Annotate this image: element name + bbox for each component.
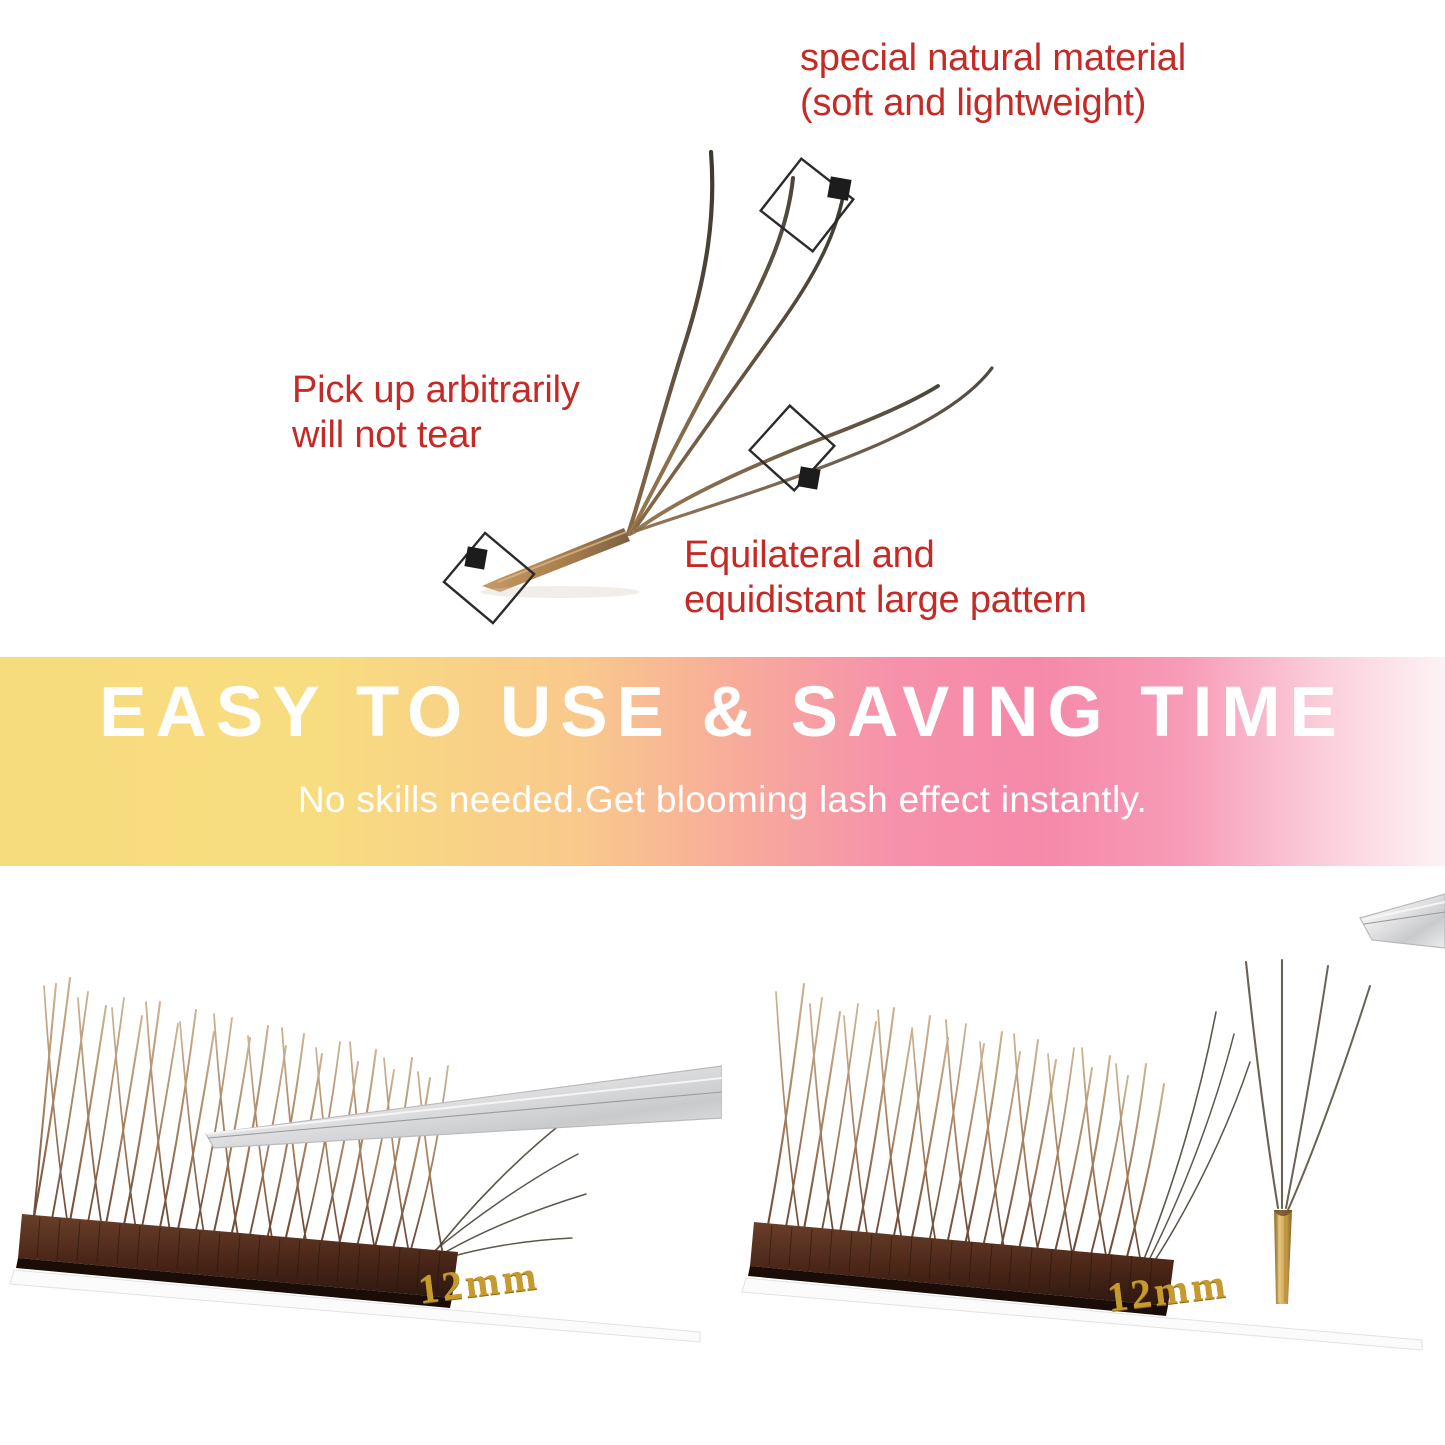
- banner-subtitle: No skills needed.Get blooming lash effec…: [0, 779, 1445, 821]
- product-photo-row: 12mm: [0, 866, 1445, 1445]
- promo-graphic-page: special natural material (soft and light…: [0, 0, 1445, 1445]
- lash-tray-left-illustration: [0, 866, 722, 1445]
- top-feature-section: special natural material (soft and light…: [0, 0, 1445, 657]
- lash-tray-right-illustration: [722, 866, 1445, 1445]
- photo-left-lash-tray: 12mm: [0, 866, 722, 1445]
- callout-equilateral-equidistant: Equilateral and equidistant large patter…: [684, 533, 1087, 623]
- headline-banner: EASY TO USE & SAVING TIME No skills need…: [0, 657, 1445, 866]
- photo-right-lash-tray: 12mm: [722, 866, 1445, 1445]
- banner-title: EASY TO USE & SAVING TIME: [0, 677, 1445, 748]
- callout-pick-up-arbitrarily: Pick up arbitrarily will not tear: [292, 368, 580, 458]
- callout-special-natural-material: special natural material (soft and light…: [800, 36, 1186, 126]
- lash-fan-base: [482, 528, 630, 592]
